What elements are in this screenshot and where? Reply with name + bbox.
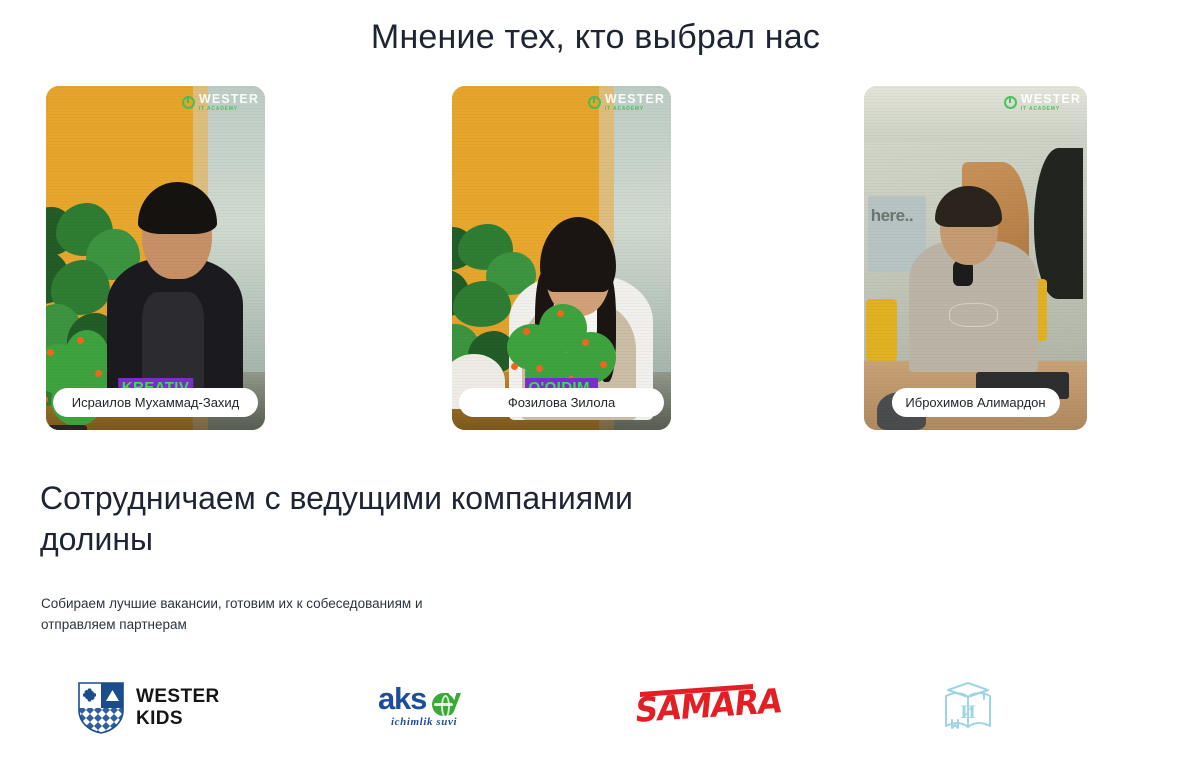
testimonial-name-badge: Исраилов Мухаммад-Захид (53, 388, 258, 417)
wester-watermark: WESTER IT ACADEMY (182, 93, 259, 112)
video-grain (864, 86, 1087, 430)
samara-wordmark: SAMARA (634, 684, 784, 728)
globe-icon (432, 693, 455, 716)
aksoy-word-a: aks (378, 681, 426, 716)
partner-logos-row: WESTER KIDS aksoy ichimlik suvi SAMARA (40, 668, 1040, 748)
power-icon (588, 96, 601, 109)
wester-kids-line1: WESTER (136, 686, 220, 707)
partners-subtext: Собираем лучшие вакансии, готовим их к с… (41, 594, 471, 636)
watermark-tagline: IT ACADEMY (199, 107, 259, 112)
testimonials-partners-page: Мнение тех, кто выбрал нас (0, 0, 1191, 767)
wester-kids-wordmark: WESTER KIDS (136, 686, 220, 730)
watermark-tagline: IT ACADEMY (1021, 107, 1081, 112)
book-graduation-cap-icon: И (940, 680, 996, 736)
aksoy-tagline: ichimlik suvi (391, 716, 457, 728)
watermark-brand: WESTER (199, 93, 259, 106)
book-letter: И (961, 702, 976, 723)
wester-watermark: WESTER IT ACADEMY (588, 93, 665, 112)
shield-icon (78, 682, 124, 734)
power-icon (1004, 96, 1017, 109)
watermark-brand: WESTER (1021, 93, 1081, 106)
page-title: Мнение тех, кто выбрал нас (0, 18, 1191, 57)
testimonial-cards-row: WESTER IT ACADEMY KREATIV Исраилов Мухам… (46, 86, 1146, 431)
wester-kids-line2: KIDS (136, 708, 183, 729)
testimonial-name-badge: Фозилова Зилола (459, 388, 664, 417)
testimonial-card-2[interactable]: WESTER IT ACADEMY O'QIDIM. Фозилова Зило… (452, 86, 671, 430)
watermark-tagline: IT ACADEMY (605, 107, 665, 112)
wester-watermark: WESTER IT ACADEMY (1004, 93, 1081, 112)
partner-logo-aksoy[interactable]: aksoy ichimlik suvi (378, 668, 490, 748)
video-thumbnail-3: here.. (864, 86, 1087, 430)
partner-logo-samara[interactable]: SAMARA (637, 668, 757, 748)
power-icon (182, 96, 195, 109)
partners-heading: Сотрудничаем с ведущими компаниями долин… (40, 478, 660, 560)
testimonial-card-3[interactable]: here.. WESTER IT ACADEMY (864, 86, 1087, 430)
partner-logo-wester-kids[interactable]: WESTER KIDS (78, 668, 220, 748)
testimonial-name-badge: Иброхимов Алимардон (891, 388, 1059, 417)
watermark-brand: WESTER (605, 93, 665, 106)
testimonial-card-1[interactable]: WESTER IT ACADEMY KREATIV Исраилов Мухам… (46, 86, 265, 430)
partner-logo-book-academy[interactable]: И (940, 668, 996, 748)
